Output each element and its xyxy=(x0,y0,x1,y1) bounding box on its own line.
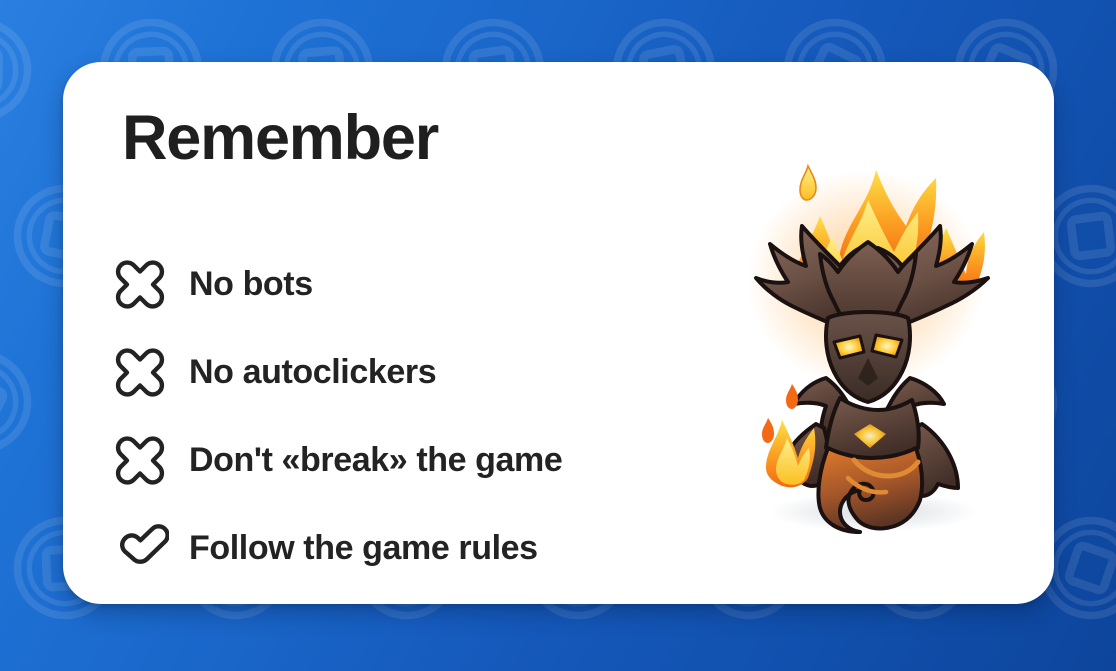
list-item-label: No bots xyxy=(189,265,313,304)
list-item: Follow the game rules xyxy=(105,504,705,592)
cross-icon xyxy=(105,254,175,314)
rules-list: No bots No autoclickers xyxy=(105,240,705,592)
list-item-label: Follow the game rules xyxy=(189,529,538,568)
promo-banner: Remember No bots xyxy=(0,0,1116,671)
list-item-label: No autoclickers xyxy=(189,353,436,392)
checkmark-icon xyxy=(105,518,175,578)
flaming-shadow-demon-mascot xyxy=(688,130,1038,540)
list-item-label: Don't «break» the game xyxy=(189,441,562,480)
info-card: Remember No bots xyxy=(63,62,1054,604)
cross-icon xyxy=(105,430,175,490)
roblox-logo-watermark-icon xyxy=(0,348,34,456)
list-item: Don't «break» the game xyxy=(105,416,705,504)
roblox-logo-watermark-icon xyxy=(0,16,34,124)
list-item: No bots xyxy=(105,240,705,328)
list-item: No autoclickers xyxy=(105,328,705,416)
page-title: Remember xyxy=(122,107,438,170)
cross-icon xyxy=(105,342,175,402)
